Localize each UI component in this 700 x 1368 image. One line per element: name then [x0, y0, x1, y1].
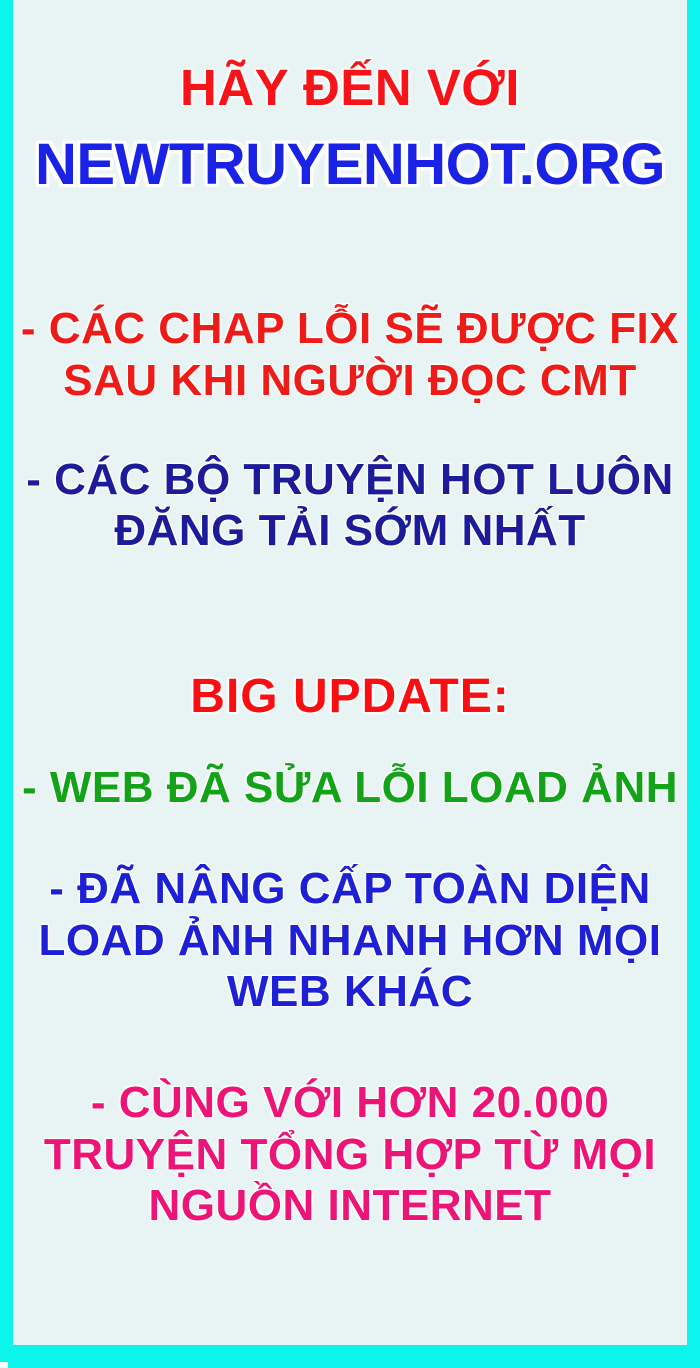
update-blue-block: - ĐÃ NÂNG CẤP TOÀN DIỆN LOAD ẢNH NHANH H…	[13, 866, 687, 1014]
update-green-block: - WEB ĐÃ SỬA LỖI LOAD ẢNH	[13, 765, 687, 810]
site-domain-text[interactable]: NEWTRUYENHOT.ORG	[13, 135, 687, 195]
right-cyan-border	[687, 0, 700, 1345]
left-cyan-border	[0, 0, 13, 1345]
update-pink-block: - CÙNG VỚI HƠN 20.000 TRUYỆN TỔNG HỢP TỪ…	[13, 1080, 687, 1228]
update-green-line-1: - WEB ĐÃ SỬA LỖI LOAD ẢNH	[13, 765, 687, 810]
headline-text: HÃY ĐẾN VỚI	[13, 62, 687, 115]
banner-canvas: HÃY ĐẾN VỚI NEWTRUYENHOT.ORG - CÁC CHAP …	[13, 0, 687, 1345]
notice-red-block: - CÁC CHAP LỖI SẼ ĐƯỢC FIX SAU KHI NGƯỜI…	[13, 306, 687, 403]
notice-red-line-2: SAU KHI NGƯỜI ĐỌC CMT	[13, 358, 687, 403]
promo-banner: HÃY ĐẾN VỚI NEWTRUYENHOT.ORG - CÁC CHAP …	[0, 0, 700, 1368]
bottom-left-corner-notch	[0, 1362, 8, 1368]
big-update-title: BIG UPDATE:	[13, 672, 687, 721]
update-pink-line-2: TRUYỆN TỔNG HỢP TỪ MỌI	[13, 1132, 687, 1177]
notice-navy-line-1: - CÁC BỘ TRUYỆN HOT LUÔN	[13, 457, 687, 502]
update-pink-line-1: - CÙNG VỚI HƠN 20.000	[13, 1080, 687, 1125]
bottom-cyan-border	[0, 1345, 700, 1368]
notice-red-line-1: - CÁC CHAP LỖI SẼ ĐƯỢC FIX	[13, 306, 687, 351]
notice-navy-line-2: ĐĂNG TẢI SỚM NHẤT	[13, 508, 687, 553]
update-blue-line-1: - ĐÃ NÂNG CẤP TOÀN DIỆN	[13, 866, 687, 911]
update-blue-line-3: WEB KHÁC	[13, 969, 687, 1014]
update-blue-line-2: LOAD ẢNH NHANH HƠN MỌI	[13, 918, 687, 963]
notice-navy-block: - CÁC BỘ TRUYỆN HOT LUÔN ĐĂNG TẢI SỚM NH…	[13, 457, 687, 554]
update-pink-line-3: NGUỒN INTERNET	[13, 1183, 687, 1228]
